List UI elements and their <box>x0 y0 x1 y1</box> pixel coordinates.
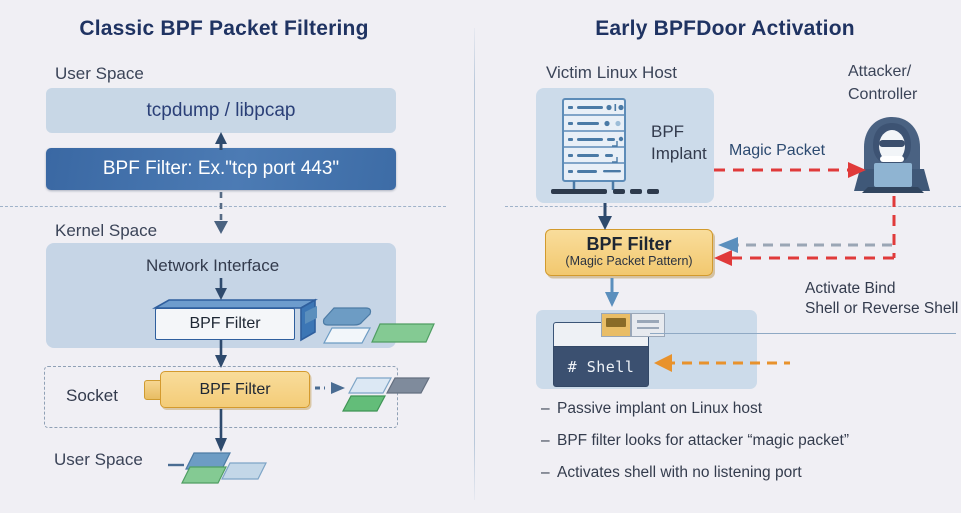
label-activate-line2: Shell or Reverse Shell <box>805 300 958 318</box>
socket-bpf-filter-box[interactable]: BPF Filter <box>160 371 310 408</box>
list-item: –Activates shell with no listening port <box>541 464 961 482</box>
bullet-list: –Passive implant on Linux host –BPF filt… <box>541 400 961 496</box>
shell-tab-yellow-icon <box>601 313 631 337</box>
bullet-text: Passive implant on Linux host <box>557 400 762 417</box>
arrow-host-to-filter <box>598 203 612 230</box>
right-panel-title: Early BPFDoor Activation <box>490 17 960 41</box>
bullet-dash: – <box>541 464 557 482</box>
label-victim-linux-host: Victim Linux Host <box>546 63 677 83</box>
tcpdump-box-label: tcpdump / libpcap <box>147 100 296 122</box>
arrow-magic-packet-to-attacker <box>714 162 866 178</box>
user-kernel-divider-left <box>0 206 446 207</box>
tcpdump-box[interactable]: tcpdump / libpcap <box>46 88 396 133</box>
kernel-bpf-filter-label: BPF Filter <box>155 308 295 340</box>
diagram-canvas: Classic BPF Packet Filtering User Space … <box>0 0 961 513</box>
label-kernel-space: Kernel Space <box>55 221 157 241</box>
shell-terminal-window[interactable]: # Shell <box>553 346 649 387</box>
list-item: –Passive implant on Linux host <box>541 400 961 418</box>
arrow-down-to-kernel <box>214 192 228 234</box>
label-magic-packet: Magic Packet <box>729 142 825 160</box>
bullet-dash: – <box>541 400 557 418</box>
socket-bpf-filter-label: BPF Filter <box>199 381 270 399</box>
magic-packet-filter-subtitle: (Magic Packet Pattern) <box>565 254 692 270</box>
label-user-space-top: User Space <box>55 64 144 84</box>
user-space-packet-group <box>168 445 298 495</box>
label-bpf-implant-line1: BPF <box>651 122 684 142</box>
label-socket: Socket <box>66 386 118 406</box>
shell-connector-line <box>650 333 956 334</box>
label-activate-line1: Activate Bind <box>805 280 895 298</box>
kernel-bpf-filter-box[interactable]: BPF Filter <box>155 300 295 334</box>
center-divider <box>474 28 475 500</box>
bpf-filter-expression-box[interactable]: BPF Filter: Ex."tcp port 443" <box>46 148 396 190</box>
label-network-interface: Network Interface <box>146 256 279 276</box>
attacker-hacker-icon <box>852 113 934 195</box>
magic-packet-filter-box[interactable]: BPF Filter (Magic Packet Pattern) <box>545 229 713 276</box>
bullet-text: BPF filter looks for attacker “magic pac… <box>557 432 849 449</box>
bullet-dash: – <box>541 432 557 450</box>
bpf-filter-expression-label: BPF Filter: Ex."tcp port 443" <box>103 158 339 180</box>
user-kernel-divider-right <box>505 206 961 207</box>
label-bpf-implant-line2: Implant <box>651 144 707 164</box>
arrow-filter-to-shell <box>605 278 619 307</box>
label-attacker-line2: Controller <box>848 86 917 104</box>
list-item: –BPF filter looks for attacker “magic pa… <box>541 432 961 450</box>
label-attacker-line1: Attacker/ <box>848 63 911 81</box>
left-panel-title: Classic BPF Packet Filtering <box>0 17 448 41</box>
bullet-text: Activates shell with no listening port <box>557 464 802 481</box>
arrow-gray-dashed-to-filter <box>718 237 892 253</box>
magic-packet-filter-title: BPF Filter <box>586 235 671 254</box>
shell-prompt-text: # Shell <box>568 358 635 376</box>
label-user-space-bottom: User Space <box>54 450 143 470</box>
